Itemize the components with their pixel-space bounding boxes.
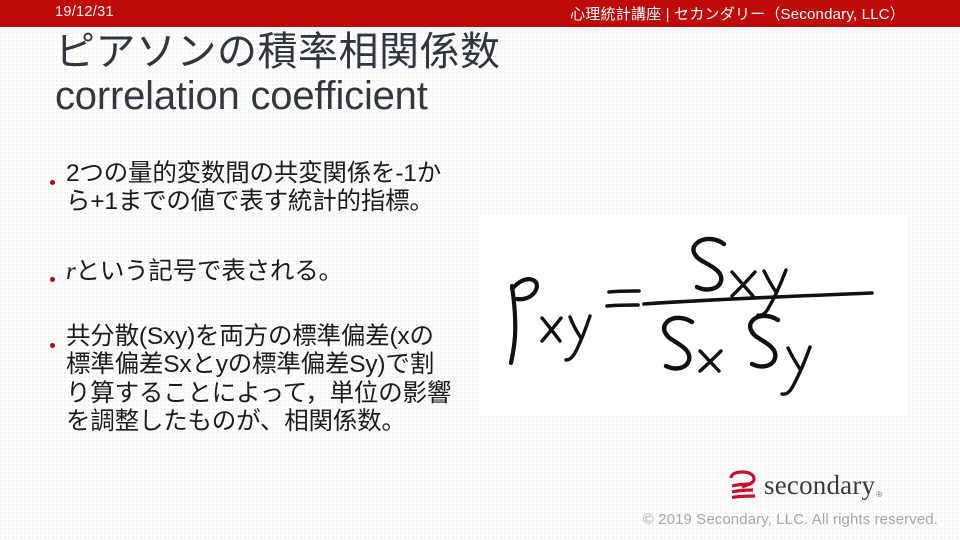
secondary-logo-mark-icon <box>727 470 761 500</box>
list-item: 共分散(Sxy)を両方の標準偏差(xの標準偏差Sxとyの標準偏差Sy)で割り算す… <box>50 323 455 437</box>
registered-mark-icon: ® <box>876 490 882 499</box>
slide-canvas: 19/12/31 心理統計講座 | セカンダリー（Secondary, LLC）… <box>0 0 960 540</box>
page-title-english: correlation coefficient <box>55 75 695 118</box>
list-item-label: 2つの量的変数間の共変関係を-1から+1までの値で表す統計的指標。 <box>66 160 455 217</box>
secondary-logo-wordmark: secondary <box>764 472 875 499</box>
list-item-label: 共分散(Sxy)を両方の標準偏差(xの標準偏差Sxとyの標準偏差Sy)で割り算す… <box>66 323 455 437</box>
header-bar: 19/12/31 心理統計講座 | セカンダリー（Secondary, LLC） <box>0 0 960 27</box>
list-item: 2つの量的変数間の共変関係を-1から+1までの値で表す統計的指標。 <box>50 160 455 217</box>
header-course-title: 心理統計講座 | セカンダリー（Secondary, LLC） <box>570 3 905 24</box>
bullet-dot-icon <box>50 160 66 190</box>
handwritten-formula-image <box>478 214 908 414</box>
bullet-list: 2つの量的変数間の共変関係を-1から+1までの値で表す統計的指標。 rという記号… <box>50 160 455 462</box>
page-title-japanese: ピアソンの積率相関係数 <box>55 31 695 73</box>
page-title: ピアソンの積率相関係数 correlation coefficient <box>55 31 695 119</box>
secondary-logo: secondary ® <box>727 466 912 504</box>
bullet-dot-icon <box>50 323 66 353</box>
list-item-label-rest: という記号で表される。 <box>76 258 343 285</box>
bullet-dot-icon <box>50 257 66 287</box>
list-item: rという記号で表される。 <box>50 257 455 287</box>
footer-copyright: © 2019 Secondary, LLC. All rights reserv… <box>643 511 938 528</box>
symbol-r: r <box>66 258 76 285</box>
header-date: 19/12/31 <box>55 4 114 20</box>
list-item-label: rという記号で表される。 <box>66 257 455 286</box>
